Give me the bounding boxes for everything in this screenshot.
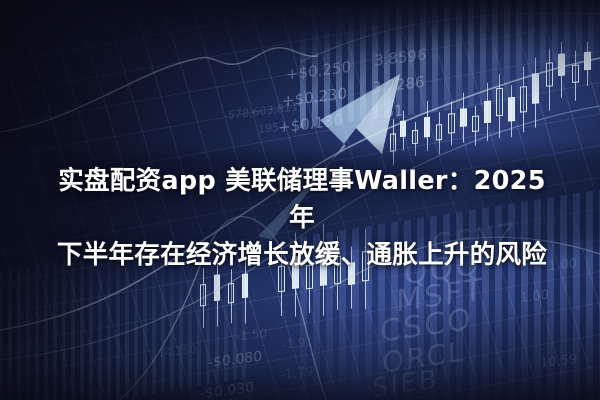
- headline-line-1: 实盘配资app 美联储理事Waller：2025年: [46, 163, 558, 237]
- headline-text: 实盘配资app 美联储理事Waller：2025年 下半年存在经济增长放缓、通胀…: [46, 163, 558, 274]
- news-banner: GENZQQQMSFTCSCOORCLSIEB +$0.2503.8596+$0…: [0, 0, 600, 400]
- headline-line-2: 下半年存在经济增长放缓、通胀上升的风险: [46, 237, 558, 274]
